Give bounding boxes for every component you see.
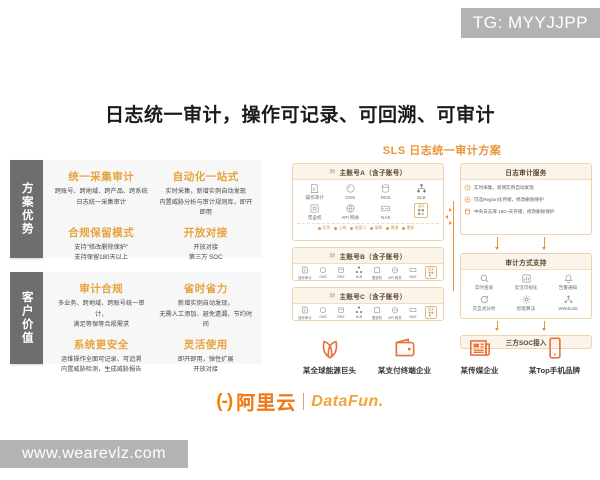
service-item-nas: NAS: [404, 306, 422, 320]
users-icon: [329, 292, 336, 299]
value-title: 灵活使用: [158, 337, 255, 352]
method-label: 告警通知: [559, 285, 577, 291]
nas-icon: [380, 203, 391, 214]
service-label: OSS: [319, 275, 326, 279]
method-label: 灵活可视化: [515, 285, 538, 291]
customer-label: 某传媒企业: [461, 365, 499, 376]
customer-label: 某全球能源巨头: [303, 365, 356, 376]
leaves-icon: [317, 335, 343, 361]
value-title: 省时省力: [158, 281, 255, 296]
region-label: 北京: [322, 226, 330, 231]
grid-icon: [417, 208, 425, 216]
search-icon: [479, 273, 490, 284]
service-label: API 网关: [341, 215, 359, 221]
oss-icon: [319, 306, 327, 314]
panel-advantages: 方案优势 统一采集审计 跨账号、跨地域、跨产品、跨系统 日志统一采集审计 自动化…: [10, 160, 262, 258]
panel-customer-value-tab: 客户价值: [10, 272, 43, 364]
customer-label: 某Top手机品牌: [529, 365, 580, 376]
account-box-a-body: 操作审计 OSS: [293, 180, 443, 234]
advantage-desc: 实时采集，新增实例自动发现 内置威胁分析与审计规则库，即开即用: [158, 187, 255, 219]
service-label: 堡垒机: [372, 315, 382, 320]
nas-icon: [409, 306, 417, 314]
oss-icon: [345, 183, 356, 194]
site-watermark: www.wearevlz.com: [0, 440, 188, 468]
phone-icon: [542, 335, 568, 361]
customer-logos: 某全球能源巨头 某支付终端企业 某传媒企业 某Top手机品: [292, 322, 592, 376]
account-box-a: 主账号A（含子账号） 操作审计: [292, 163, 444, 241]
customer-item-media: 某传媒企业: [442, 335, 517, 376]
service-item-api-gateway: API 网关: [386, 306, 404, 320]
service-item-slb: SLB: [404, 183, 440, 201]
advantage-cell: 开放对接 开放对接 第三方 SOC: [154, 222, 259, 267]
rds-icon: [380, 183, 391, 194]
value-cell: 系统更安全 运维操作全面可记录、可追溯 内置威胁检测，生成威胁报告: [49, 334, 154, 379]
service-grid-a: 操作审计 OSS: [297, 183, 439, 221]
advantage-title: 合规保留模式: [53, 225, 150, 240]
slide-root: TG: MYYJJPP www.wearevlz.com 日志统一审计，操作可记…: [0, 0, 600, 480]
region-dot-icon: [386, 227, 389, 230]
service-grid-c: 操作审计 OSS RDS SLB: [296, 306, 440, 320]
service-label: 操作审计: [298, 315, 312, 320]
region-item: 张家口: [350, 226, 366, 231]
service-item-audit: 操作审计: [297, 183, 333, 201]
method-item-alert: 告警通知: [547, 273, 589, 291]
service-item-bastion: 堡垒机: [297, 203, 333, 221]
account-box-b-title: 主账号B（含子账号）: [339, 251, 406, 261]
bullet-item: 可选Region化存储，修改删除保护: [464, 196, 588, 203]
advantage-title: 开放对接: [158, 225, 255, 240]
value-desc: 多业务、跨地域、跨账号统一审计， 满足等保等合规需求: [53, 299, 150, 331]
region-dot-icon: [370, 227, 373, 230]
bullet-text: 实时采集，新增实例自动发现: [474, 185, 534, 191]
service-item-audit: 操作审计: [296, 306, 314, 320]
advantage-cell: 合规保留模式 支持"修改删除保护" 支持保留180天以上: [49, 222, 154, 267]
connector-bus: [453, 201, 454, 291]
service-label: 操作审计: [298, 275, 312, 280]
region-item: 香港: [386, 226, 398, 231]
value-desc: 新增实例自动发现， 无需人工添加、避免遗漏，节约时间: [158, 299, 255, 331]
connector-arrow-icon: [445, 215, 448, 219]
region-item: 上海: [334, 226, 346, 231]
region-item: 更多…: [402, 226, 418, 231]
account-box-c-header: 主账号C（含子账号）: [293, 288, 443, 304]
more-services-chip[interactable]: 更多: [425, 266, 437, 279]
service-label: SLB: [417, 195, 426, 200]
method-item-visualization: 灵活可视化: [505, 273, 547, 291]
service-label: OSS: [319, 315, 326, 319]
log-audit-service-header: 日志审计服务: [461, 164, 591, 180]
aliyun-mark-icon: (-): [216, 391, 232, 413]
service-label: 操作审计: [306, 195, 324, 201]
database-icon: [464, 208, 471, 215]
bullet-text: 中央日志库 180~天存储，修改删除保护: [474, 209, 555, 215]
service-label: API 网关: [388, 275, 401, 280]
service-item-more[interactable]: 更多: [404, 203, 440, 221]
account-box-a-title: 主账号A（含子账号）: [339, 167, 406, 177]
service-label: OSS: [345, 195, 355, 200]
news-icon: [467, 335, 493, 361]
service-label: RDS: [337, 275, 344, 279]
audit-icon: [301, 266, 309, 274]
method-label: Webhook: [558, 306, 577, 311]
rds-icon: [337, 306, 345, 314]
bell-icon: [563, 273, 574, 284]
advantage-title: 统一采集审计: [53, 169, 150, 184]
service-item-nas: NAS: [404, 266, 422, 280]
service-item-nas: NAS: [368, 203, 404, 221]
refresh-icon: [479, 294, 490, 305]
wallet-icon: [392, 335, 418, 361]
value-title: 系统更安全: [53, 337, 150, 352]
target-icon: [464, 196, 471, 203]
advantage-desc: 开放对接 第三方 SOC: [158, 243, 255, 264]
service-item-oss: OSS: [314, 266, 332, 280]
users-icon: [329, 168, 336, 175]
grid-icon: [428, 311, 434, 317]
bastion-icon: [373, 266, 381, 274]
region-dot-icon: [402, 227, 405, 230]
datafun-wordmark: DataFun.: [311, 393, 383, 411]
value-cell: 灵活使用 即开即用，弹性扩展 开放对接: [154, 334, 259, 379]
slb-icon: [355, 306, 363, 314]
customer-item-energy: 某全球能源巨头: [292, 335, 367, 376]
api-gateway-icon: [391, 266, 399, 274]
service-item-bastion: 堡垒机: [368, 266, 386, 280]
users-icon: [329, 252, 336, 259]
customer-label: 某支付终端企业: [378, 365, 431, 376]
bastion-icon: [309, 203, 320, 214]
panel-advantages-tab: 方案优势: [10, 160, 43, 258]
region-list: 北京 上海 张家口 深圳 香港 更多…: [297, 223, 439, 231]
region-item: 北京: [318, 226, 330, 231]
footer-logos: (-) 阿里云 DataFun.: [0, 388, 600, 415]
method-label: 实时查询: [475, 285, 493, 291]
account-box-c-title: 主账号C（含子账号）: [339, 291, 406, 301]
flow-arrow-icon: [542, 247, 546, 250]
service-label: NAS: [410, 315, 417, 319]
diagram-title: SLS 日志统一审计方案: [292, 142, 592, 158]
audit-icon: [309, 183, 320, 194]
value-title: 审计合规: [53, 281, 150, 296]
bullet-item: 中央日志库 180~天存储，修改删除保护: [464, 208, 588, 215]
method-item-interactive-analysis: 交互式分析: [463, 294, 505, 312]
logo-divider: [303, 393, 304, 410]
method-label: 智能算法: [517, 306, 535, 312]
region-label: 上海: [339, 226, 347, 231]
audit-methods-box: 审计方式支持 实时查询 灵活可视化: [460, 253, 592, 319]
advantage-cell: 自动化一站式 实时采集，新增实例自动发现 内置威胁分析与审计规则库，即开即用: [154, 166, 259, 222]
clock-icon: [464, 184, 471, 191]
connector-arrow-icon: [449, 221, 452, 225]
service-label: NAS: [410, 275, 417, 279]
customer-item-phone: 某Top手机品牌: [517, 335, 592, 376]
customer-item-payment: 某支付终端企业: [367, 335, 442, 376]
service-item-bastion: 堡垒机: [368, 306, 386, 320]
account-box-b-header: 主账号B（含子账号）: [293, 248, 443, 264]
bullet-item: 实时采集，新增实例自动发现: [464, 184, 588, 191]
region-label: 深圳: [375, 226, 383, 231]
more-services-chip[interactable]: 更多: [425, 306, 437, 319]
aliyun-wordmark: 阿里云: [236, 388, 296, 415]
service-label: RDS: [337, 315, 344, 319]
log-audit-service-box: 日志审计服务 实时采集，新增实例自动发现 可: [460, 163, 592, 235]
service-label: SLB: [356, 275, 362, 279]
value-desc: 即开即用，弹性扩展 开放对接: [158, 355, 255, 376]
api-gateway-icon: [391, 306, 399, 314]
service-grid-b: 操作审计 OSS RDS SLB: [296, 266, 440, 280]
service-item-api-gateway: API 网关: [386, 266, 404, 280]
bastion-icon: [373, 306, 381, 314]
audit-icon: [301, 306, 309, 314]
service-label: API 网关: [388, 315, 401, 320]
panel-advantages-body: 统一采集审计 跨账号、跨地域、跨产品、跨系统 日志统一采集审计 自动化一站式 实…: [43, 160, 262, 258]
region-dot-icon: [334, 227, 337, 230]
slb-icon: [416, 183, 427, 194]
audit-methods-header: 审计方式支持: [461, 254, 591, 270]
service-item-rds: RDS: [332, 266, 350, 280]
webhook-icon: [563, 294, 574, 305]
method-item-smart-algorithm: 智能算法: [505, 294, 547, 312]
advantage-desc: 跨账号、跨地域、跨产品、跨系统 日志统一采集审计: [53, 187, 150, 208]
value-cell: 省时省力 新增实例自动发现， 无需人工添加、避免遗漏，节约时间: [154, 278, 259, 334]
region-dot-icon: [350, 227, 353, 230]
account-box-c: 主账号C（含子账号） 操作审计 OSS: [292, 287, 444, 321]
flow-arrow-icon: [495, 247, 499, 250]
chart-icon: [521, 273, 532, 284]
service-label: NAS: [381, 215, 390, 220]
rds-icon: [337, 266, 345, 274]
region-label: 更多…: [407, 226, 418, 231]
oss-icon: [319, 266, 327, 274]
service-label: 堡垒机: [308, 215, 322, 221]
region-label: 张家口: [355, 226, 366, 231]
advantage-title: 自动化一站式: [158, 169, 255, 184]
service-item-slb: SLB: [350, 306, 368, 320]
service-label: SLB: [356, 315, 362, 319]
method-item-realtime-query: 实时查询: [463, 273, 505, 291]
aliyun-logo: (-) 阿里云: [216, 388, 296, 415]
connector-arrow-icon: [449, 208, 452, 212]
account-box-a-header: 主账号A（含子账号）: [293, 164, 443, 180]
region-item: 深圳: [370, 226, 382, 231]
service-label: 堡垒机: [372, 275, 382, 280]
api-gateway-icon: [345, 203, 356, 214]
service-item-oss: OSS: [314, 306, 332, 320]
service-item-oss: OSS: [333, 183, 369, 201]
more-services-chip[interactable]: 更多: [414, 203, 428, 218]
service-item-api-gateway: API 网关: [333, 203, 369, 221]
account-box-b-body: 操作审计 OSS RDS SLB: [293, 264, 443, 282]
advantage-cell: 统一采集审计 跨账号、跨地域、跨产品、跨系统 日志统一采集审计: [49, 166, 154, 222]
method-item-webhook: Webhook: [547, 294, 589, 312]
account-box-c-body: 操作审计 OSS RDS SLB: [293, 304, 443, 322]
page-title: 日志统一审计，操作可记录、可回溯、可审计: [0, 100, 600, 127]
panel-customer-value-body: 审计合规 多业务、跨地域、跨账号统一审计， 满足等保等合规需求 省时省力 新增实…: [43, 272, 262, 364]
region-dot-icon: [318, 227, 321, 230]
service-item-audit: 操作审计: [296, 266, 314, 280]
log-audit-bullets: 实时采集，新增实例自动发现 可选Region化存储，修改删除保护: [461, 180, 591, 219]
account-box-b: 主账号B（含子账号） 操作审计 OSS: [292, 247, 444, 281]
gear-icon: [521, 294, 532, 305]
service-item-more[interactable]: 更多: [422, 266, 440, 280]
service-item-rds: RDS: [368, 183, 404, 201]
slb-icon: [355, 266, 363, 274]
service-label: RDS: [381, 195, 391, 200]
value-cell: 审计合规 多业务、跨地域、跨账号统一审计， 满足等保等合规需求: [49, 278, 154, 334]
service-item-rds: RDS: [332, 306, 350, 320]
region-label: 香港: [391, 226, 399, 231]
nas-icon: [409, 266, 417, 274]
bullet-text: 可选Region化存储，修改删除保护: [474, 197, 544, 203]
panel-customer-value: 客户价值 审计合规 多业务、跨地域、跨账号统一审计， 满足等保等合规需求 省时省…: [10, 272, 262, 364]
advantage-desc: 支持"修改删除保护" 支持保留180天以上: [53, 243, 150, 264]
service-item-more[interactable]: 更多: [422, 306, 440, 320]
grid-icon: [428, 271, 434, 277]
value-desc: 运维操作全面可记录、可追溯 内置威胁检测，生成威胁报告: [53, 355, 150, 376]
audit-methods-grid: 实时查询 灵活可视化 告警通知: [461, 270, 591, 315]
method-label: 交互式分析: [473, 306, 496, 312]
telegram-watermark: TG: MYYJJPP: [461, 8, 600, 38]
service-item-slb: SLB: [350, 266, 368, 280]
